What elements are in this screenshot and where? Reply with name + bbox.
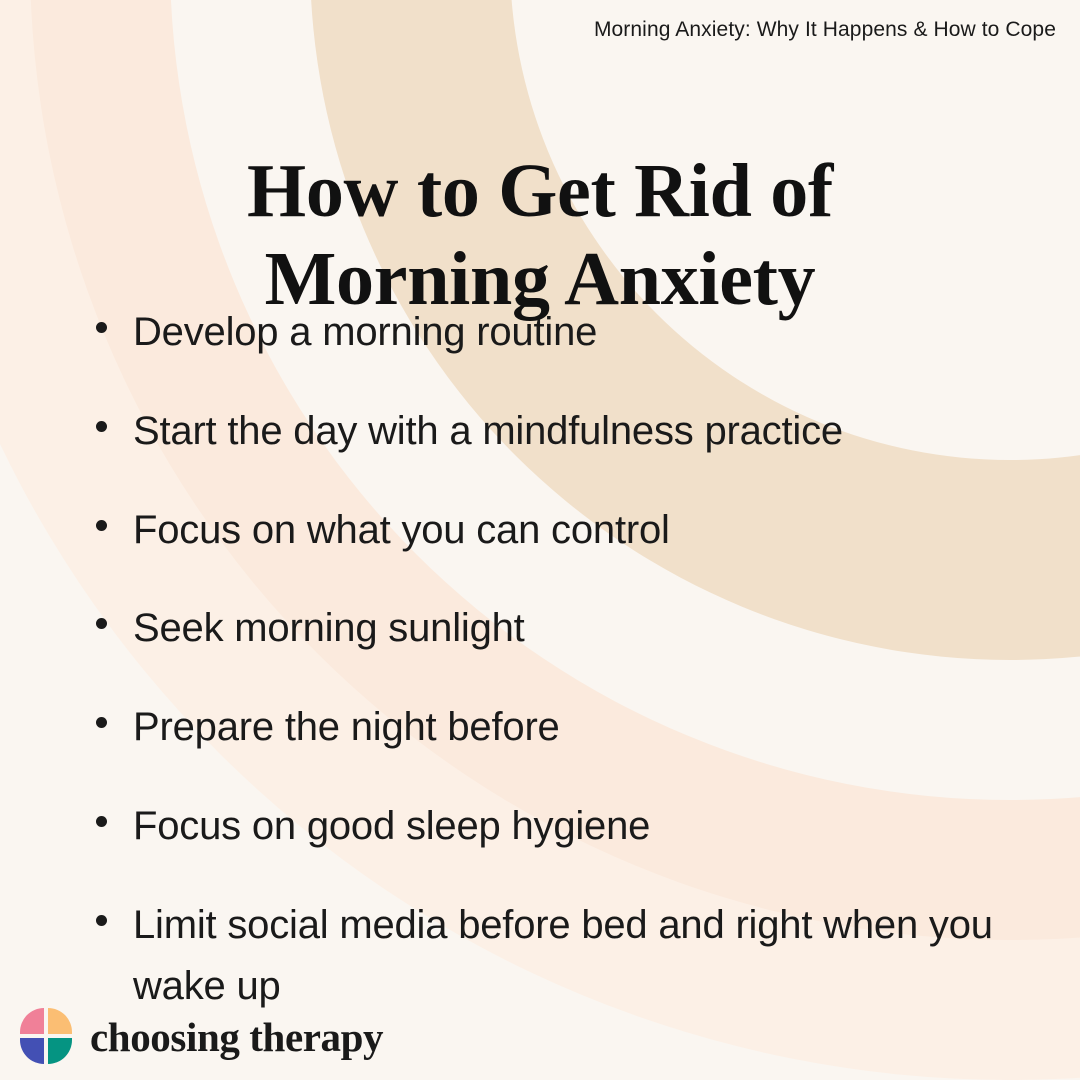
logo-quadrant-bottom-right <box>48 1038 72 1064</box>
brand-name: choosing therapy <box>90 1017 383 1058</box>
bullet-dot-icon <box>96 520 107 531</box>
list-item-label: Limit social media before bed and right … <box>133 895 1056 1017</box>
list-item: Focus on what you can control <box>96 500 1056 561</box>
bullet-dot-icon <box>96 421 107 432</box>
page-title: How to Get Rid of Morning Anxiety <box>0 147 1080 323</box>
logo-quadrant-bottom-left <box>20 1038 44 1064</box>
list-item: Prepare the night before <box>96 697 1056 758</box>
list-item: Focus on good sleep hygiene <box>96 796 1056 857</box>
page-title-line-1: How to Get Rid of <box>0 147 1080 235</box>
list-item-label: Start the day with a mindfulness practic… <box>133 401 1056 462</box>
bullet-dot-icon <box>96 618 107 629</box>
list-item-label: Develop a morning routine <box>133 302 1056 363</box>
brand-lockup: choosing therapy <box>20 1008 383 1066</box>
logo-quadrant-top-left <box>20 1008 44 1034</box>
bullet-dot-icon <box>96 717 107 728</box>
list-item-label: Seek morning sunlight <box>133 598 1056 659</box>
list-item-label: Focus on what you can control <box>133 500 1056 561</box>
tips-list: Develop a morning routine Start the day … <box>96 302 1056 1054</box>
poster-canvas: Morning Anxiety: Why It Happens & How to… <box>0 0 1080 1080</box>
bullet-dot-icon <box>96 322 107 333</box>
bullet-dot-icon <box>96 915 107 926</box>
bullet-dot-icon <box>96 816 107 827</box>
list-item: Limit social media before bed and right … <box>96 895 1056 1017</box>
list-item-label: Focus on good sleep hygiene <box>133 796 1056 857</box>
pinwheel-logo-icon <box>20 1008 74 1066</box>
eyebrow-headline: Morning Anxiety: Why It Happens & How to… <box>594 17 1056 42</box>
list-item-label: Prepare the night before <box>133 697 1056 758</box>
list-item: Start the day with a mindfulness practic… <box>96 401 1056 462</box>
list-item: Develop a morning routine <box>96 302 1056 363</box>
list-item: Seek morning sunlight <box>96 598 1056 659</box>
logo-quadrant-top-right <box>48 1008 72 1034</box>
